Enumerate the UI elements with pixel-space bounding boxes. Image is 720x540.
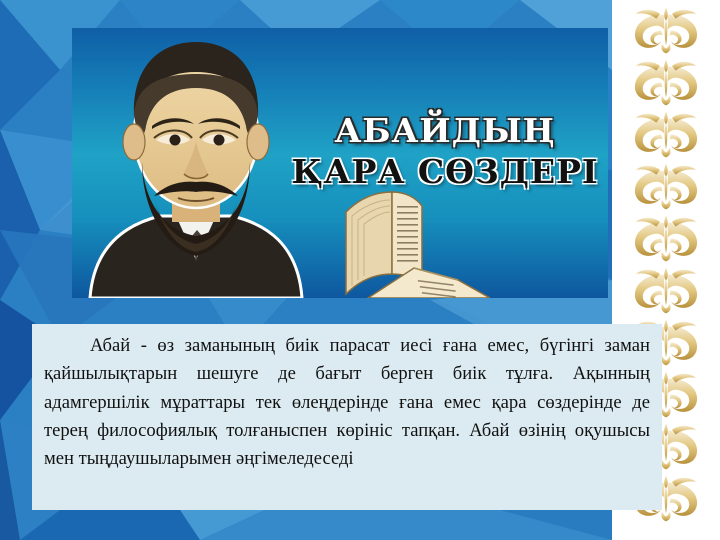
kazakh-ornament-icon xyxy=(630,108,702,160)
kazakh-ornament-icon xyxy=(630,160,702,212)
open-book-illustration xyxy=(340,176,490,298)
title-banner: АБАЙДЫҢ ҚАРА СӨЗДЕРІ xyxy=(72,28,608,298)
open-book xyxy=(340,176,490,298)
kazakh-ornament-icon xyxy=(630,264,702,316)
kazakh-ornament-icon xyxy=(630,56,702,108)
body-text-box: Абай - өз заманының биік парасат иесі ға… xyxy=(32,324,662,510)
banner-title: АБАЙДЫҢ ҚАРА СӨЗДЕРІ xyxy=(284,114,606,188)
abai-portrait-illustration xyxy=(80,30,312,298)
kazakh-ornament-icon xyxy=(630,4,702,56)
body-text: Абай - өз заманының биік парасат иесі ға… xyxy=(44,332,650,473)
kazakh-ornament-icon xyxy=(630,212,702,264)
title-line-2: ҚАРА СӨЗДЕРІ xyxy=(284,155,606,188)
title-line-1: АБАЙДЫҢ xyxy=(284,114,606,147)
slide-canvas: АБАЙДЫҢ ҚАРА СӨЗДЕРІ Абай - өз заманының… xyxy=(0,0,720,540)
abai-portrait xyxy=(80,30,312,298)
